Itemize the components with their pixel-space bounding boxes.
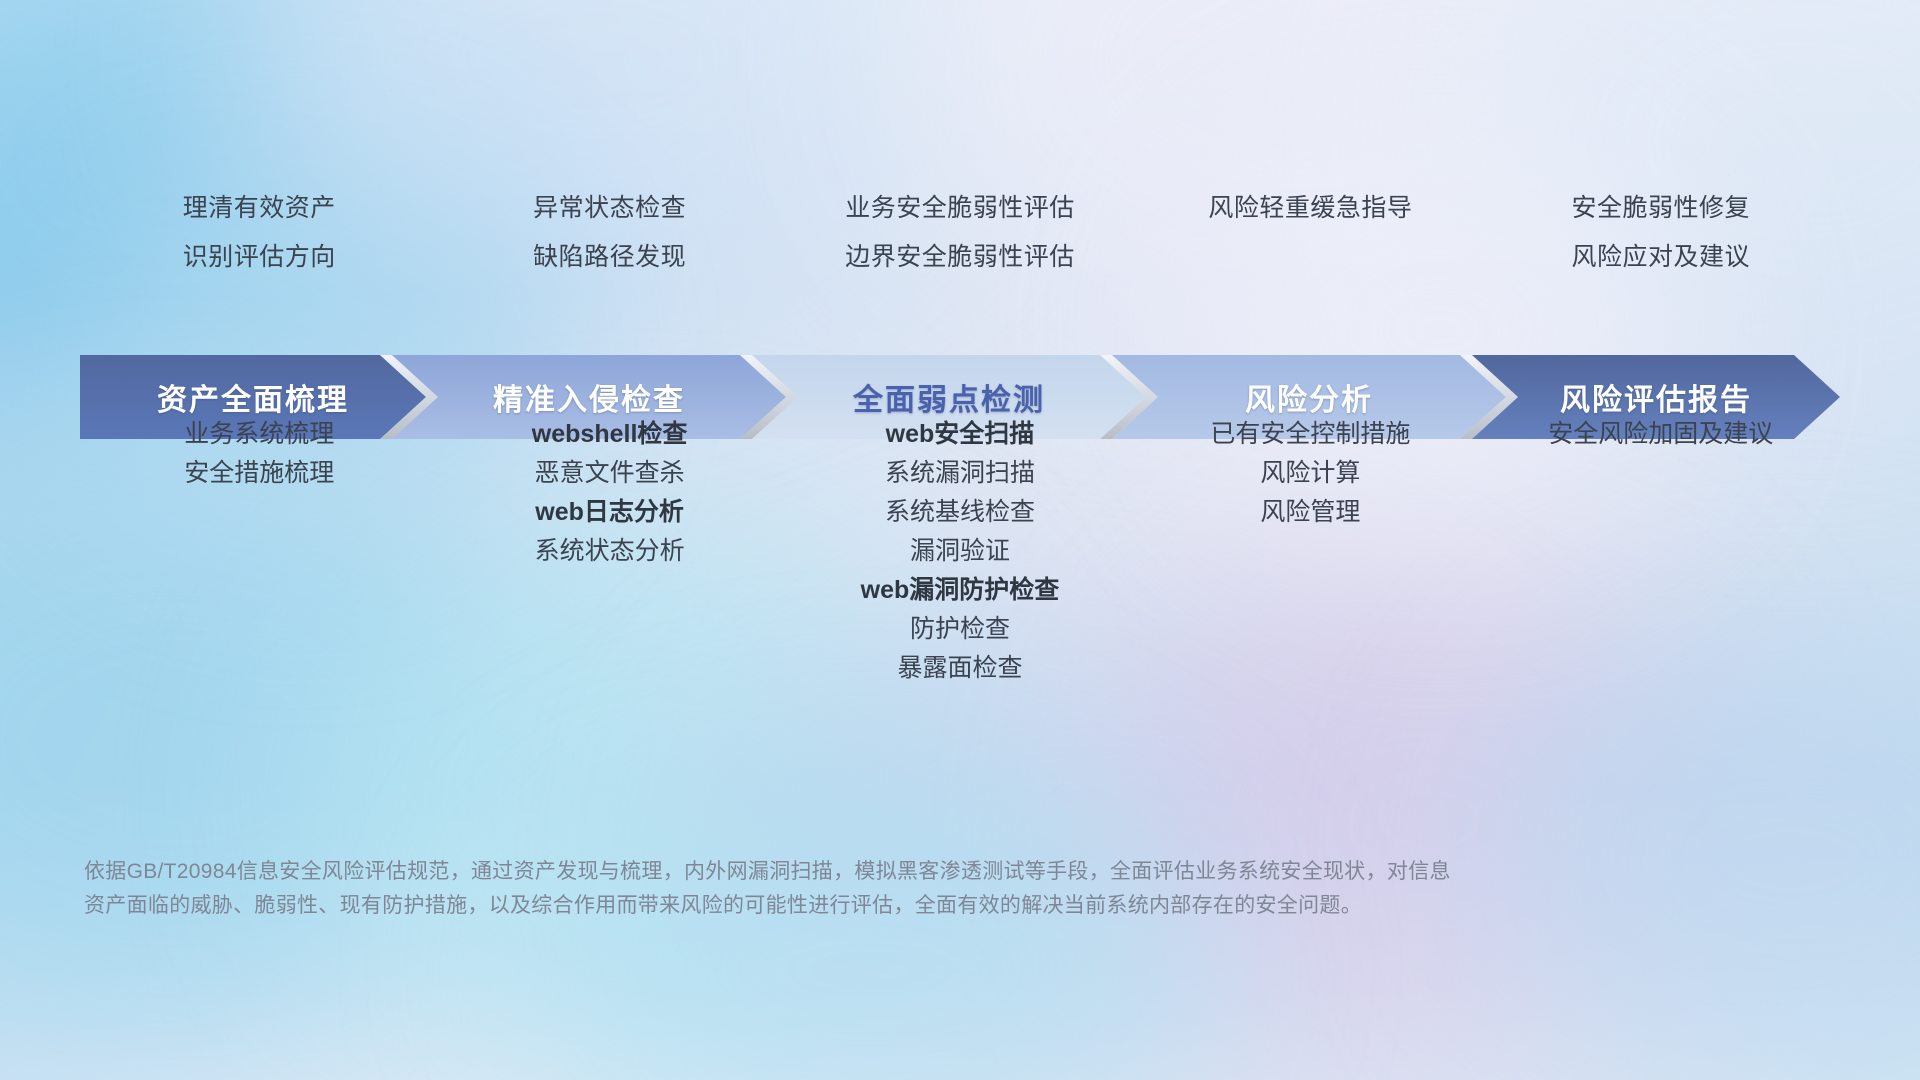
list-item: webshell检查 bbox=[434, 415, 784, 454]
list-item: 暴露面检查 bbox=[785, 649, 1135, 688]
top-note: 异常状态检查 bbox=[434, 184, 784, 233]
list-item: 风险管理 bbox=[1135, 493, 1485, 532]
caption-line-1: 依据GB/T20984信息安全风险评估规范，通过资产发现与梳理，内外网漏洞扫描，… bbox=[84, 855, 1564, 889]
items-intrusion-check: webshell检查 恶意文件查杀 web日志分析 系统状态分析 bbox=[434, 415, 784, 688]
list-item: 安全措施梳理 bbox=[84, 454, 434, 493]
top-note: 风险轻重缓急指导 bbox=[1135, 184, 1485, 233]
top-note: 边界安全脆弱性评估 bbox=[785, 233, 1135, 282]
list-item: web日志分析 bbox=[434, 493, 784, 532]
items-risk-report: 安全风险加固及建议 bbox=[1486, 415, 1836, 688]
top-notes-asset-inventory: 理清有效资产 识别评估方向 bbox=[84, 184, 434, 282]
top-note: 理清有效资产 bbox=[84, 184, 434, 233]
stage-items-row: 业务系统梳理 安全措施梳理 webshell检查 恶意文件查杀 web日志分析 … bbox=[84, 415, 1836, 688]
list-item: 已有安全控制措施 bbox=[1135, 415, 1485, 454]
top-notes-risk-report: 安全脆弱性修复 风险应对及建议 bbox=[1486, 184, 1836, 282]
top-note: 识别评估方向 bbox=[84, 233, 434, 282]
list-item: web安全扫描 bbox=[785, 415, 1135, 454]
caption-line-2: 资产面临的威胁、脆弱性、现有防护措施，以及综合作用而带来风险的可能性进行评估，全… bbox=[84, 889, 1564, 923]
top-notes-weakness-detection: 业务安全脆弱性评估 边界安全脆弱性评估 bbox=[785, 184, 1135, 282]
list-item: 防护检查 bbox=[785, 610, 1135, 649]
list-item: 系统状态分析 bbox=[434, 532, 784, 571]
top-note: 安全脆弱性修复 bbox=[1486, 184, 1836, 233]
top-notes-intrusion-check: 异常状态检查 缺陷路径发现 bbox=[434, 184, 784, 282]
top-notes-row: 理清有效资产 识别评估方向 异常状态检查 缺陷路径发现 业务安全脆弱性评估 边界… bbox=[84, 184, 1836, 282]
items-asset-inventory: 业务系统梳理 安全措施梳理 bbox=[84, 415, 434, 688]
top-note: 缺陷路径发现 bbox=[434, 233, 784, 282]
items-weakness-detection: web安全扫描 系统漏洞扫描 系统基线检查 漏洞验证 web漏洞防护检查 防护检… bbox=[785, 415, 1135, 688]
list-item: 漏洞验证 bbox=[785, 532, 1135, 571]
top-notes-risk-analysis: 风险轻重缓急指导 bbox=[1135, 184, 1485, 282]
list-item: 系统基线检查 bbox=[785, 493, 1135, 532]
top-note: 业务安全脆弱性评估 bbox=[785, 184, 1135, 233]
list-item: 恶意文件查杀 bbox=[434, 454, 784, 493]
list-item: 业务系统梳理 bbox=[84, 415, 434, 454]
list-item: 风险计算 bbox=[1135, 454, 1485, 493]
list-item: 安全风险加固及建议 bbox=[1486, 415, 1836, 454]
list-item: 系统漏洞扫描 bbox=[785, 454, 1135, 493]
top-note: 风险应对及建议 bbox=[1486, 233, 1836, 282]
footer-caption: 依据GB/T20984信息安全风险评估规范，通过资产发现与梳理，内外网漏洞扫描，… bbox=[84, 855, 1564, 923]
items-risk-analysis: 已有安全控制措施 风险计算 风险管理 bbox=[1135, 415, 1485, 688]
list-item: web漏洞防护检查 bbox=[785, 571, 1135, 610]
